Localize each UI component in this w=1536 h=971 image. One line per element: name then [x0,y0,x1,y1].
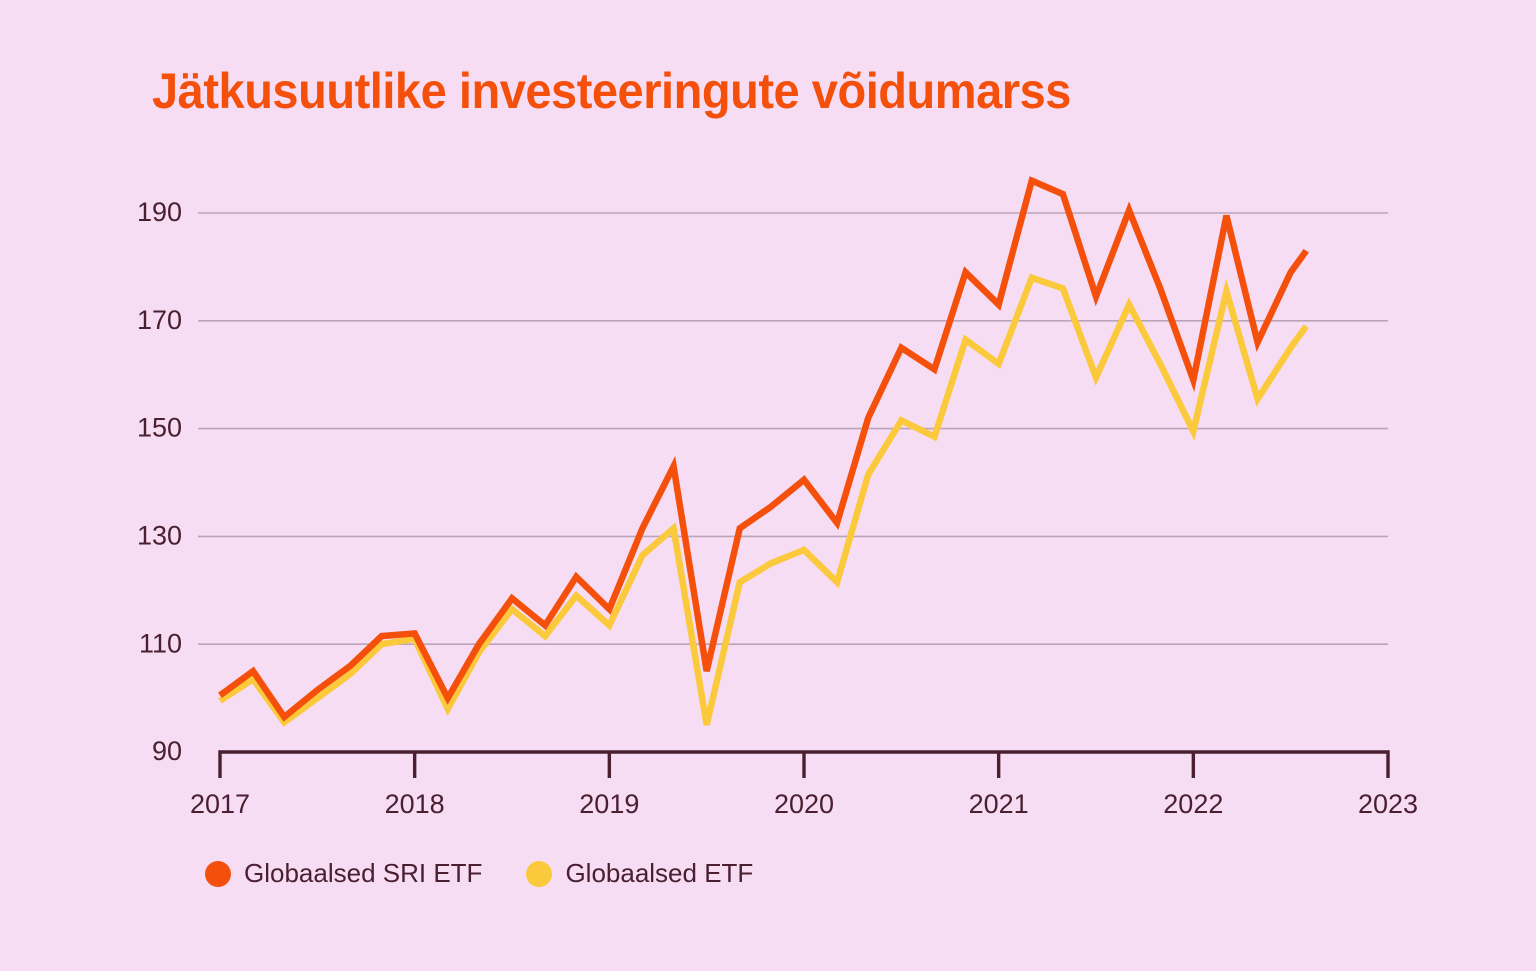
series-line-etf [220,278,1306,725]
x-axis-tick-label: 2020 [774,789,834,819]
x-axis-tick-label: 2017 [190,789,250,819]
y-axis-tick-label: 130 [137,521,182,551]
line-chart-plot: 90110130150170190 2017201820192020202120… [0,0,1536,971]
legend-item-etf[interactable]: Globaalsed ETF [526,858,753,889]
x-axis-tick-label: 2019 [579,789,639,819]
y-axis-tick-label: 150 [137,413,182,443]
legend-swatch-etf [526,861,552,887]
x-axis-tick-labels: 2017201820192020202120222023 [190,789,1418,819]
x-axis-tick-label: 2023 [1358,789,1418,819]
legend-label-etf: Globaalsed ETF [565,858,753,889]
y-axis-tick-labels: 90110130150170190 [137,197,182,766]
y-axis-tick-label: 190 [137,197,182,227]
data-series [220,181,1306,725]
legend-label-sri-etf: Globaalsed SRI ETF [244,858,482,889]
x-axis-tick-label: 2022 [1163,789,1223,819]
chart-legend: Globaalsed SRI ETF Globaalsed ETF [205,858,753,889]
x-axis-tick-label: 2021 [969,789,1029,819]
x-axis-tick-label: 2018 [385,789,445,819]
chart-page: Jätkusuutlike investeeringute võidumarss… [0,0,1536,971]
legend-item-sri-etf[interactable]: Globaalsed SRI ETF [205,858,482,889]
series-line-sri-etf [220,181,1306,717]
legend-swatch-sri-etf [205,861,231,887]
y-axis-tick-label: 90 [152,736,182,766]
y-axis-tick-label: 110 [139,628,182,658]
x-axis [220,752,1388,778]
gridlines [198,213,1388,644]
y-axis-tick-label: 170 [137,305,182,335]
